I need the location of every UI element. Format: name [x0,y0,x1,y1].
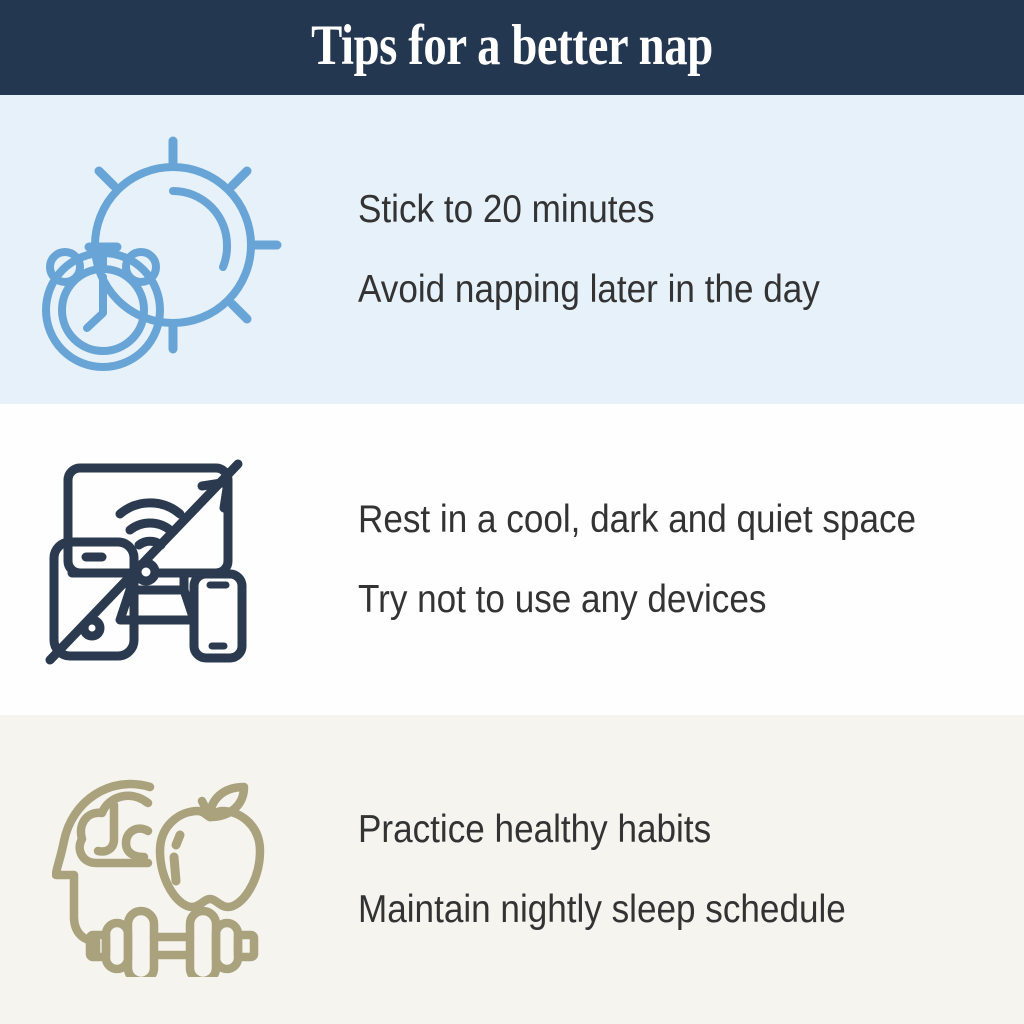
tip-row-1: Stick to 20 minutes Avoid napping later … [0,95,1024,404]
no-devices-icon [42,452,272,667]
sun-alarm-clock-icon [31,125,283,377]
tip-row-2-text-cell: Rest in a cool, dark and quiet space Try… [358,404,1024,715]
tip-row-3-text-cell: Practice healthy habits Maintain nightly… [358,715,1024,1024]
tip-row-1-text-cell: Stick to 20 minutes Avoid napping later … [358,95,1024,404]
page-title: Tips for a better nap [311,17,713,78]
infographic-poster: Tips for a better nap [0,0,1024,1024]
tip-row-1-line-1: Stick to 20 minutes [358,190,957,229]
brain-apple-dumbbell-icon [52,765,268,977]
tip-row-2: Rest in a cool, dark and quiet space Try… [0,404,1024,715]
tip-row-2-line-2: Try not to use any devices [358,580,957,619]
header-banner: Tips for a better nap [0,0,1024,95]
tip-row-3: Practice healthy habits Maintain nightly… [0,715,1024,1024]
tip-row-2-icon-cell [0,404,358,715]
tip-row-1-icon-cell [0,95,358,404]
tip-row-1-line-2: Avoid napping later in the day [358,270,957,309]
tip-row-3-icon-cell [0,715,358,1024]
tip-row-3-line-2: Maintain nightly sleep schedule [358,890,957,929]
tip-row-3-line-1: Practice healthy habits [358,810,957,849]
tip-row-2-line-1: Rest in a cool, dark and quiet space [358,500,957,539]
